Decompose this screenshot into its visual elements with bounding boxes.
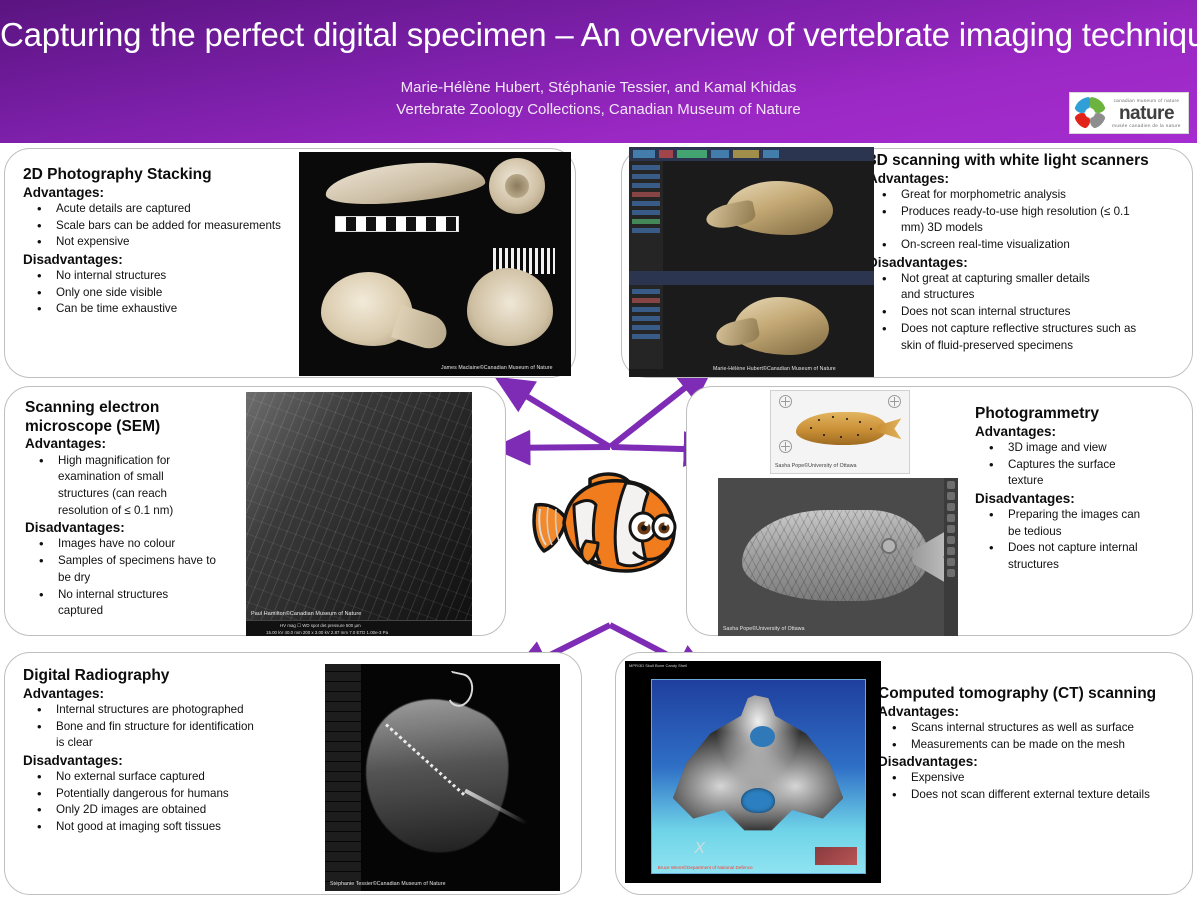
ct-viewport: X Bruce Wiens©Department of National Def… bbox=[651, 679, 866, 874]
list-item: Measurements can be made on the mesh bbox=[878, 737, 1188, 754]
advantages-list: Acute details are captured Scale bars ca… bbox=[23, 201, 295, 251]
list-item: Images have no colour bbox=[25, 536, 251, 553]
list-item: On-screen real-time visualization bbox=[868, 237, 1190, 254]
image-credit: Stéphanie Tessier©Canadian Museum of Nat… bbox=[330, 881, 446, 887]
list-item: Bone and fin structure for identificatio… bbox=[23, 719, 315, 736]
disadvantages-label: Disadvantages: bbox=[868, 255, 1190, 271]
list-item: Does not scan different external texture… bbox=[878, 787, 1188, 804]
list-item-continuation: structures (can reach bbox=[25, 486, 251, 503]
panel-title-line-1: Scanning electron bbox=[25, 399, 251, 417]
radiograph-image: Stéphanie Tessier©Canadian Museum of Nat… bbox=[325, 664, 560, 891]
disadvantages-label: Disadvantages: bbox=[975, 491, 1183, 507]
list-item: Scans internal structures as well as sur… bbox=[878, 720, 1188, 737]
ct-viewer-title: MPR/3D Skull Bone Candy Shell bbox=[629, 663, 687, 668]
list-item-continuation: mm) 3D models bbox=[868, 220, 1190, 237]
advantages-list: High magnification for examination of sm… bbox=[25, 453, 251, 520]
disadvantages-list: Preparing the images can be tedious Does… bbox=[975, 507, 1183, 574]
list-item-continuation: is clear bbox=[23, 735, 315, 752]
watermark-icon: X bbox=[694, 840, 705, 858]
disadvantages-list: No external surface captured Potentially… bbox=[23, 769, 315, 836]
specimen-photo-image: James Maclaine©Canadian Museum of Nature bbox=[299, 152, 571, 376]
list-item: Not great at capturing smaller details bbox=[868, 271, 1190, 288]
list-item: Does not capture internal bbox=[975, 540, 1183, 557]
ct-scan-image: MPR/3D Skull Bone Candy Shell X Bruce Wi… bbox=[625, 661, 881, 883]
museum-logo: canadian museum of nature nature musée c… bbox=[1069, 92, 1189, 134]
panel-title: 3D scanning with white light scanners bbox=[868, 152, 1190, 170]
photogrammetry-mesh-image: Sasha Pope©University of Ottawa bbox=[718, 478, 958, 636]
disadvantages-label: Disadvantages: bbox=[878, 754, 1188, 770]
logo-wordmark: nature bbox=[1109, 104, 1184, 123]
list-item-continuation: structures bbox=[975, 557, 1183, 574]
panel-title: Digital Radiography bbox=[23, 667, 315, 685]
marker-target-icon bbox=[779, 440, 792, 453]
list-item: Produces ready-to-use high resolution (≤… bbox=[868, 204, 1190, 221]
list-item: Only one side visible bbox=[23, 285, 295, 302]
sem-data-bar: HV mag ☐ WD spot det pressure 500 µm 15.… bbox=[246, 620, 472, 636]
disadvantages-list: Expensive Does not scan different extern… bbox=[878, 770, 1188, 803]
list-item-continuation: be dry bbox=[25, 570, 251, 587]
advantages-label: Advantages: bbox=[975, 424, 1183, 440]
panel-title-line-2: microscope (SEM) bbox=[25, 418, 251, 436]
list-item: Not expensive bbox=[23, 234, 295, 251]
list-item-continuation: texture bbox=[975, 473, 1183, 490]
list-item: Great for morphometric analysis bbox=[868, 187, 1190, 204]
list-item: Does not capture reflective structures s… bbox=[868, 321, 1190, 338]
list-item: Scale bars can be added for measurements bbox=[23, 218, 295, 235]
nature-logo-icon bbox=[1074, 97, 1106, 129]
advantages-list: Internal structures are photographed Bon… bbox=[23, 702, 315, 752]
image-credit: Sasha Pope©University of Ottawa bbox=[723, 626, 805, 632]
list-item: Internal structures are photographed bbox=[23, 702, 315, 719]
advantages-label: Advantages: bbox=[868, 171, 1190, 187]
advantages-list: 3D image and view Captures the surface t… bbox=[975, 440, 1183, 490]
list-item-continuation: be tedious bbox=[975, 524, 1183, 541]
list-item: Expensive bbox=[878, 770, 1188, 787]
marker-target-icon bbox=[779, 395, 792, 408]
list-item: Captures the surface bbox=[975, 457, 1183, 474]
list-item: No external surface captured bbox=[23, 769, 315, 786]
sem-databar-line-2: 15.00 kV 40.0 mm 200 x 3.00 kV 2.87 mm 7… bbox=[266, 630, 388, 635]
poster-title: Capturing the perfect digital specimen –… bbox=[0, 16, 1197, 54]
sem-micrograph-image: Paul Hamilton©Canadian Museum of Nature … bbox=[246, 392, 472, 636]
advantages-list: Great for morphometric analysis Produces… bbox=[868, 187, 1190, 254]
list-item: Can be time exhaustive bbox=[23, 301, 295, 318]
list-item: Acute details are captured bbox=[23, 201, 295, 218]
list-item-continuation: captured bbox=[25, 603, 251, 620]
disadvantages-label: Disadvantages: bbox=[25, 520, 251, 536]
list-item: Samples of specimens have to bbox=[25, 553, 251, 570]
disadvantages-list: No internal structures Only one side vis… bbox=[23, 268, 295, 318]
image-credit: Paul Hamilton©Canadian Museum of Nature bbox=[251, 611, 361, 617]
advantages-label: Advantages: bbox=[25, 436, 251, 452]
list-item: Potentially dangerous for humans bbox=[23, 786, 315, 803]
image-credit: Marie-Hélène Hubert©Canadian Museum of N… bbox=[713, 366, 836, 372]
marker-target-icon bbox=[888, 395, 901, 408]
list-item: Does not scan internal structures bbox=[868, 304, 1190, 321]
advantages-list: Scans internal structures as well as sur… bbox=[878, 720, 1188, 753]
advantages-label: Advantages: bbox=[23, 185, 295, 201]
list-item-continuation: examination of small bbox=[25, 469, 251, 486]
clownfish-illustration bbox=[530, 465, 682, 583]
3d-scan-screenshot-image: Marie-Hélène Hubert©Canadian Museum of N… bbox=[629, 147, 874, 377]
panel-title: Photogrammetry bbox=[975, 405, 1183, 423]
advantages-label: Advantages: bbox=[878, 704, 1188, 720]
image-credit: Bruce Wiens©Department of National Defen… bbox=[658, 865, 753, 870]
disadvantages-label: Disadvantages: bbox=[23, 252, 295, 268]
sem-databar-line-1: HV mag ☐ WD spot det pressure 500 µm bbox=[280, 623, 361, 629]
advantages-label: Advantages: bbox=[23, 686, 315, 702]
list-item-continuation: and structures bbox=[868, 287, 1190, 304]
disadvantages-list: Not great at capturing smaller details a… bbox=[868, 271, 1190, 354]
list-item-continuation: resolution of ≤ 0.1 nm) bbox=[25, 503, 251, 520]
list-item: 3D image and view bbox=[975, 440, 1183, 457]
list-item: High magnification for bbox=[25, 453, 251, 470]
photogrammetry-markers-image: Sasha Pope©University of Ottawa bbox=[770, 390, 910, 474]
list-item-continuation: skin of fluid-preserved specimens bbox=[868, 338, 1190, 355]
viewer-toolbar[interactable] bbox=[944, 478, 958, 636]
list-item: No internal structures bbox=[25, 587, 251, 604]
ct-viewer-titlebar: MPR/3D Skull Bone Candy Shell bbox=[625, 661, 881, 671]
poster-header: Capturing the perfect digital specimen –… bbox=[0, 0, 1197, 143]
poster-affiliation: Vertebrate Zoology Collections, Canadian… bbox=[0, 101, 1197, 118]
disadvantages-label: Disadvantages: bbox=[23, 753, 315, 769]
list-item: Only 2D images are obtained bbox=[23, 802, 315, 819]
panel-title: 2D Photography Stacking bbox=[23, 166, 295, 184]
image-credit: James Maclaine©Canadian Museum of Nature bbox=[441, 365, 553, 371]
ndrc-badge bbox=[815, 847, 857, 865]
panel-title: Computed tomography (CT) scanning bbox=[878, 685, 1188, 703]
image-credit: Sasha Pope©University of Ottawa bbox=[775, 463, 857, 469]
list-item: Not good at imaging soft tissues bbox=[23, 819, 315, 836]
poster-authors: Marie-Hélène Hubert, Stéphanie Tessier, … bbox=[0, 79, 1197, 96]
disadvantages-list: Images have no colour Samples of specime… bbox=[25, 536, 251, 619]
list-item: No internal structures bbox=[23, 268, 295, 285]
logo-bottom-line: musée canadien de la nature bbox=[1109, 123, 1184, 128]
list-item: Preparing the images can bbox=[975, 507, 1183, 524]
